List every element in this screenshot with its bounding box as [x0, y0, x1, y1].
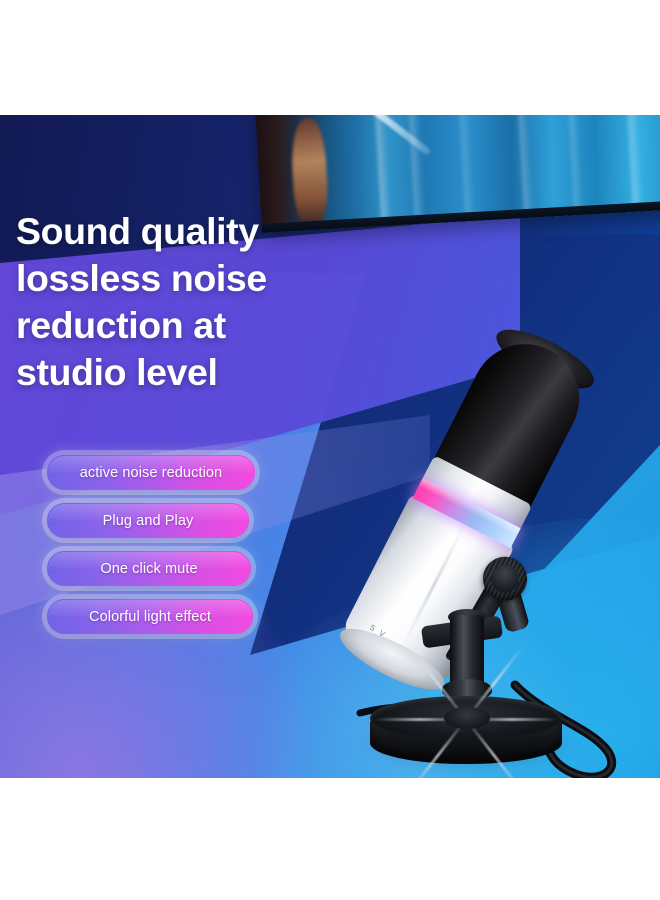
headline: Sound quality lossless noise reduction a… [16, 208, 346, 396]
feature-pill: One click mute [47, 551, 251, 586]
feature-pill-label: Colorful light effect [89, 609, 211, 625]
feature-pill-label: active noise reduction [80, 465, 222, 481]
feature-pill-list: active noise reduction Plug and Play One… [47, 455, 255, 634]
feature-pill: Colorful light effect [47, 599, 253, 634]
feature-pill-label: One click mute [100, 561, 197, 577]
headline-line-4: studio level [16, 349, 346, 396]
headline-line-3: reduction at [16, 302, 346, 349]
headline-line-1: Sound quality [16, 208, 346, 255]
headline-line-2: lossless noise [16, 255, 346, 302]
feature-pill: active noise reduction [47, 455, 255, 490]
feature-pill-label: Plug and Play [103, 513, 194, 529]
microphone-product-image: 5 V [330, 215, 660, 778]
stand-base-hub [444, 707, 490, 729]
product-banner: Sound quality lossless noise reduction a… [0, 115, 660, 778]
feature-pill: Plug and Play [47, 503, 249, 538]
